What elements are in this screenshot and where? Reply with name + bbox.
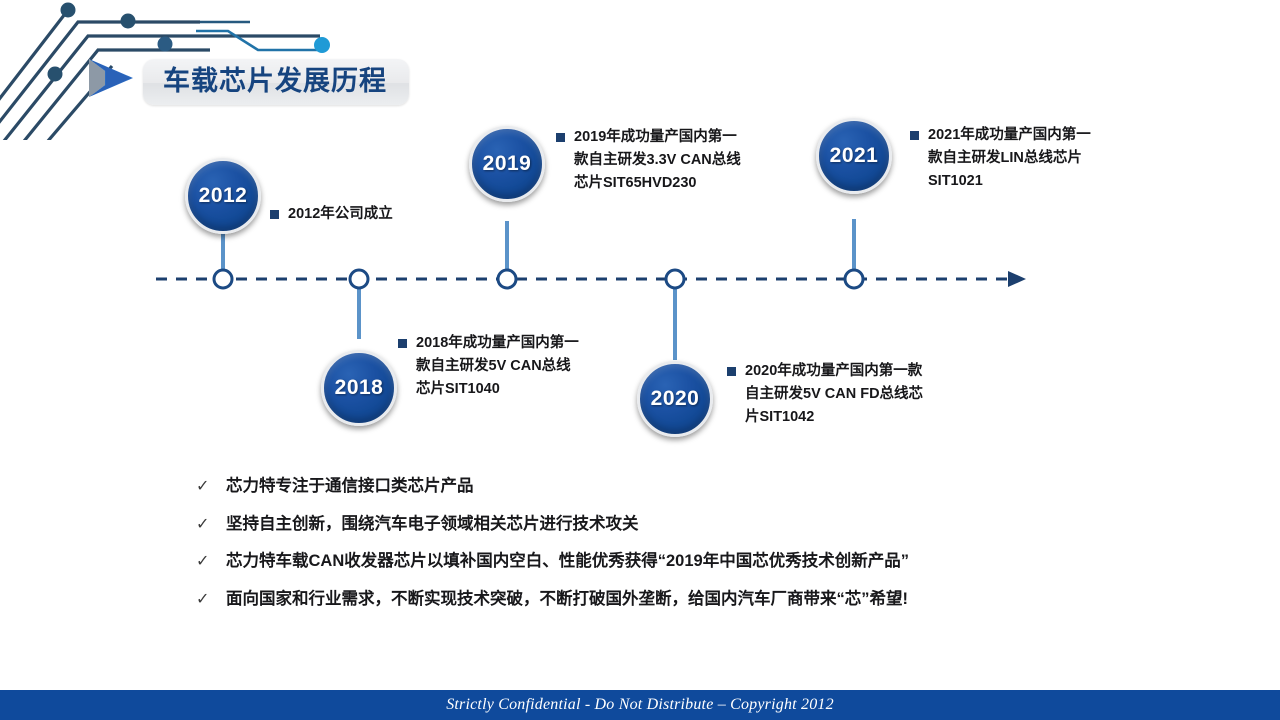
title-plate: 车载芯片发展历程 — [143, 59, 409, 105]
axis-marker-2020 — [666, 270, 684, 288]
check-icon: ✓ — [196, 517, 226, 533]
list-item-label: 坚持自主创新，围绕汽车电子领域相关芯片进行技术攻关 — [226, 514, 639, 535]
axis-marker-2018 — [350, 270, 368, 288]
check-icon: ✓ — [196, 554, 226, 570]
square-bullet-icon — [398, 339, 407, 348]
circuit-dot — [61, 3, 76, 18]
timeline-node-2012[interactable]: 2012 — [185, 158, 261, 234]
square-bullet-icon — [727, 367, 736, 376]
title-block: 车载芯片发展历程 — [85, 48, 409, 108]
timeline-arrow-icon — [1008, 271, 1026, 287]
node-year-label: 2012 — [199, 184, 248, 208]
list-item: ✓ 坚持自主创新，围绕汽车电子领域相关芯片进行技术攻关 — [196, 514, 1196, 535]
node-year-label: 2021 — [830, 144, 879, 168]
event-body: 2019年成功量产国内第一 款自主研发3.3V CAN总线 芯片SIT65HVD… — [574, 126, 741, 196]
timeline-node-2019[interactable]: 2019 — [469, 126, 545, 202]
circuit-dot — [121, 14, 136, 29]
slide-canvas: 车载芯片发展历程 2012 2018 2019 — [0, 0, 1280, 720]
node-year-label: 2019 — [483, 152, 532, 176]
event-body: 2021年成功量产国内第一 款自主研发LIN总线芯片 SIT1021 — [928, 124, 1091, 194]
event-text-2020: 2020年成功量产国内第一款 自主研发5V CAN FD总线芯 片SIT1042 — [727, 360, 977, 430]
node-year-label: 2018 — [335, 376, 384, 400]
checklist: ✓ 芯力特专注于通信接口类芯片产品 ✓ 坚持自主创新，围绕汽车电子领域相关芯片进… — [196, 476, 1196, 627]
list-item: ✓ 芯力特专注于通信接口类芯片产品 — [196, 476, 1196, 497]
play-triangle-icon — [85, 55, 137, 101]
timeline-node-2021[interactable]: 2021 — [816, 118, 892, 194]
event-text-2019: 2019年成功量产国内第一 款自主研发3.3V CAN总线 芯片SIT65HVD… — [556, 126, 796, 196]
event-text-2012: 2012年公司成立 — [270, 203, 510, 226]
square-bullet-icon — [270, 210, 279, 219]
timeline-node-2018[interactable]: 2018 — [321, 350, 397, 426]
timeline-node-2020[interactable]: 2020 — [637, 361, 713, 437]
check-icon: ✓ — [196, 479, 226, 495]
axis-marker-2021 — [845, 270, 863, 288]
event-text-2018: 2018年成功量产国内第一 款自主研发5V CAN总线 芯片SIT1040 — [398, 332, 628, 402]
event-body: 2018年成功量产国内第一 款自主研发5V CAN总线 芯片SIT1040 — [416, 332, 579, 402]
circuit-dot — [48, 67, 63, 82]
event-body: 2012年公司成立 — [288, 203, 393, 226]
axis-marker-2019 — [498, 270, 516, 288]
check-icon: ✓ — [196, 592, 226, 608]
square-bullet-icon — [556, 133, 565, 142]
list-item-label: 面向国家和行业需求，不断实现技术突破，不断打破国外垄断，给国内汽车厂商带来“芯”… — [226, 589, 908, 610]
list-item-label: 芯力特专注于通信接口类芯片产品 — [226, 476, 474, 497]
footer-bar: Strictly Confidential - Do Not Distribut… — [0, 690, 1280, 720]
list-item: ✓ 面向国家和行业需求，不断实现技术突破，不断打破国外垄断，给国内汽车厂商带来“… — [196, 589, 1196, 610]
axis-marker-2012 — [214, 270, 232, 288]
list-item: ✓ 芯力特车载CAN收发器芯片以填补国内空白、性能优秀获得“2019年中国芯优秀… — [196, 551, 1196, 572]
footer-text: Strictly Confidential - Do Not Distribut… — [446, 696, 834, 714]
event-body: 2020年成功量产国内第一款 自主研发5V CAN FD总线芯 片SIT1042 — [745, 360, 923, 430]
node-year-label: 2020 — [651, 387, 700, 411]
page-title: 车载芯片发展历程 — [163, 66, 387, 96]
list-item-label: 芯力特车载CAN收发器芯片以填补国内空白、性能优秀获得“2019年中国芯优秀技术… — [226, 551, 909, 572]
event-text-2021: 2021年成功量产国内第一 款自主研发LIN总线芯片 SIT1021 — [910, 124, 1150, 194]
square-bullet-icon — [910, 131, 919, 140]
